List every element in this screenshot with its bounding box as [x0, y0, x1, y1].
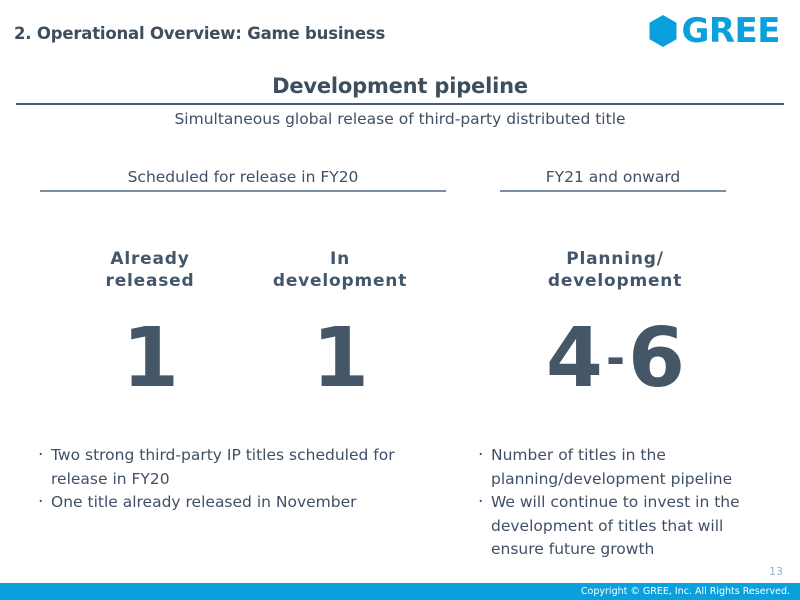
main-heading: Development pipeline [0, 74, 800, 98]
heading-divider [16, 103, 784, 105]
page-title: 2. Operational Overview: Game business [14, 24, 385, 43]
list-item: Number of titles in the planning/develop… [478, 444, 778, 491]
gree-logo: GREE [648, 14, 780, 48]
column-heading-line1: Planning/ [566, 249, 663, 269]
value-max: 6 [628, 311, 684, 406]
footer-bar: Copyright © GREE, Inc. All Rights Reserv… [0, 583, 800, 600]
column-heading-line2: development [273, 271, 407, 291]
column-heading-line2: development [548, 271, 682, 291]
subtitle: Simultaneous global release of third-par… [0, 110, 800, 128]
value-min: 4 [546, 311, 602, 406]
column-heading-planning-development: Planning/ development [510, 248, 720, 293]
slide: 2. Operational Overview: Game business G… [0, 0, 800, 600]
list-item: One title already released in November [38, 491, 442, 515]
column-heading-line1: Already [110, 249, 189, 269]
column-heading-line2: released [106, 271, 195, 291]
bullet-list-left: Two strong third-party IP titles schedul… [38, 444, 442, 515]
column-heading-line1: In [330, 249, 350, 269]
column-value-planning-development: 4-6 [505, 318, 725, 400]
list-item: Two strong third-party IP titles schedul… [38, 444, 442, 491]
column-value-already-released: 1 [60, 318, 240, 400]
group-label-fy21: FY21 and onward [500, 168, 726, 186]
column-value-in-development: 1 [250, 318, 430, 400]
hexagon-icon [648, 14, 678, 48]
copyright-text: Copyright © GREE, Inc. All Rights Reserv… [581, 584, 790, 600]
bullet-list-right: Number of titles in the planning/develop… [478, 444, 778, 562]
logo-wordmark: GREE [681, 14, 780, 48]
column-heading-in-development: In development [250, 248, 430, 293]
group-label-fy20: Scheduled for release in FY20 [40, 168, 446, 186]
value-range-dash: - [602, 331, 628, 385]
page-number: 13 [769, 565, 783, 578]
column-heading-already-released: Already released [60, 248, 240, 293]
list-item: We will continue to invest in the develo… [478, 491, 778, 562]
group-divider-left [40, 190, 446, 192]
group-divider-right [500, 190, 726, 192]
